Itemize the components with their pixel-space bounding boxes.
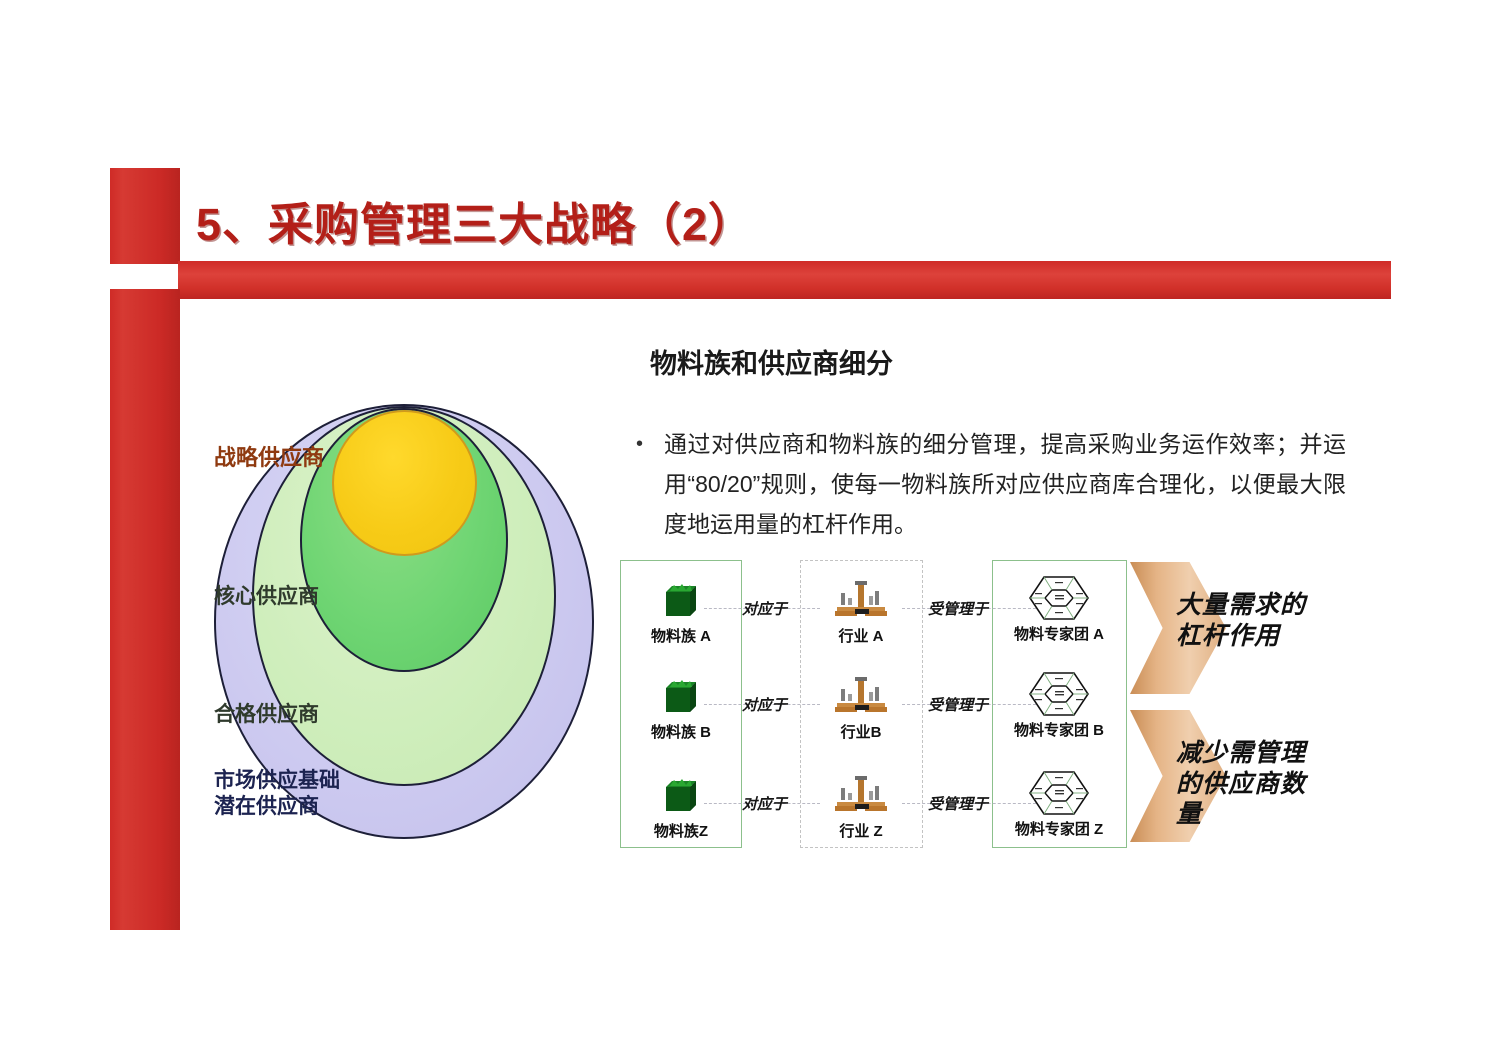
relation-label-right-b: 受管理于 [928,694,988,715]
ellipse-strategic-suppliers [332,410,477,556]
label-market-base: 市场供应基础 潜在供应商 [214,768,594,821]
green-box-icon [620,674,742,718]
page-title: 5、采购管理三大战略（2） [196,188,754,253]
slide-canvas: 5、采购管理三大战略（2） 战略供应商 核心供应商 合格供应商 市场供应基础 潜… [0,0,1500,1060]
node-material-family-a: 物料族 A [620,578,742,646]
node-label: 行业 A [800,625,922,646]
relation-label-left-z: 对应于 [742,793,787,814]
hexagon-cluster-icon [998,672,1120,716]
outcome-label-reduce-suppliers: 减少需管理 的供应商数 量 [1176,738,1306,830]
hexagon-cluster-icon [998,576,1120,620]
left-accent-bar [110,289,180,930]
green-box-icon [620,773,742,817]
node-label: 物料专家团 Z [998,818,1120,839]
label-strategic-suppliers: 战略供应商 [214,444,594,472]
title-underline-bar [178,261,1391,299]
factory-icon [800,674,922,718]
outcome-label-leverage: 大量需求的 杠杆作用 [1176,590,1306,651]
factory-icon [800,578,922,622]
node-label: 物料专家团 A [998,623,1120,644]
hexagon-cluster-icon [998,771,1120,815]
node-industry-b: 行业B [800,674,922,742]
node-material-family-z: 物料族Z [620,773,742,841]
section-heading: 物料族和供应商细分 [650,342,893,381]
green-box-icon [620,578,742,622]
node-material-family-b: 物料族 B [620,674,742,742]
node-industry-a: 行业 A [800,578,922,646]
relation-label-right-z: 受管理于 [928,793,988,814]
material-family-process-diagram: 对应于 对应于 对应于 受管理于 受管理于 受管理于 物料族 A [620,560,1400,856]
label-core-suppliers: 核心供应商 [214,584,594,610]
node-label: 物料族 A [620,625,742,646]
bullet-paragraph: 通过对供应商和物料族的细分管理，提高采购业务运作效率；并运用“80/20”规则，… [664,424,1346,544]
node-label: 物料族 B [620,721,742,742]
node-industry-z: 行业 Z [800,773,922,841]
node-label: 行业 Z [800,820,922,841]
node-label: 行业B [800,721,922,742]
bullet-marker-icon: • [634,424,664,464]
node-label: 物料专家团 B [998,719,1120,740]
relation-label-right-a: 受管理于 [928,598,988,619]
supplier-segmentation-diagram: 战略供应商 核心供应商 合格供应商 市场供应基础 潜在供应商 [214,404,594,844]
label-qualified-suppliers: 合格供应商 [214,702,594,728]
node-expert-team-a: 物料专家团 A [998,576,1120,644]
relation-label-left-a: 对应于 [742,598,787,619]
bullet-list: • 通过对供应商和物料族的细分管理，提高采购业务运作效率；并运用“80/20”规… [634,424,1346,544]
node-expert-team-b: 物料专家团 B [998,672,1120,740]
title-accent-bar-top [110,168,180,264]
node-expert-team-z: 物料专家团 Z [998,771,1120,839]
relation-label-left-b: 对应于 [742,694,787,715]
node-label: 物料族Z [620,820,742,841]
factory-icon [800,773,922,817]
